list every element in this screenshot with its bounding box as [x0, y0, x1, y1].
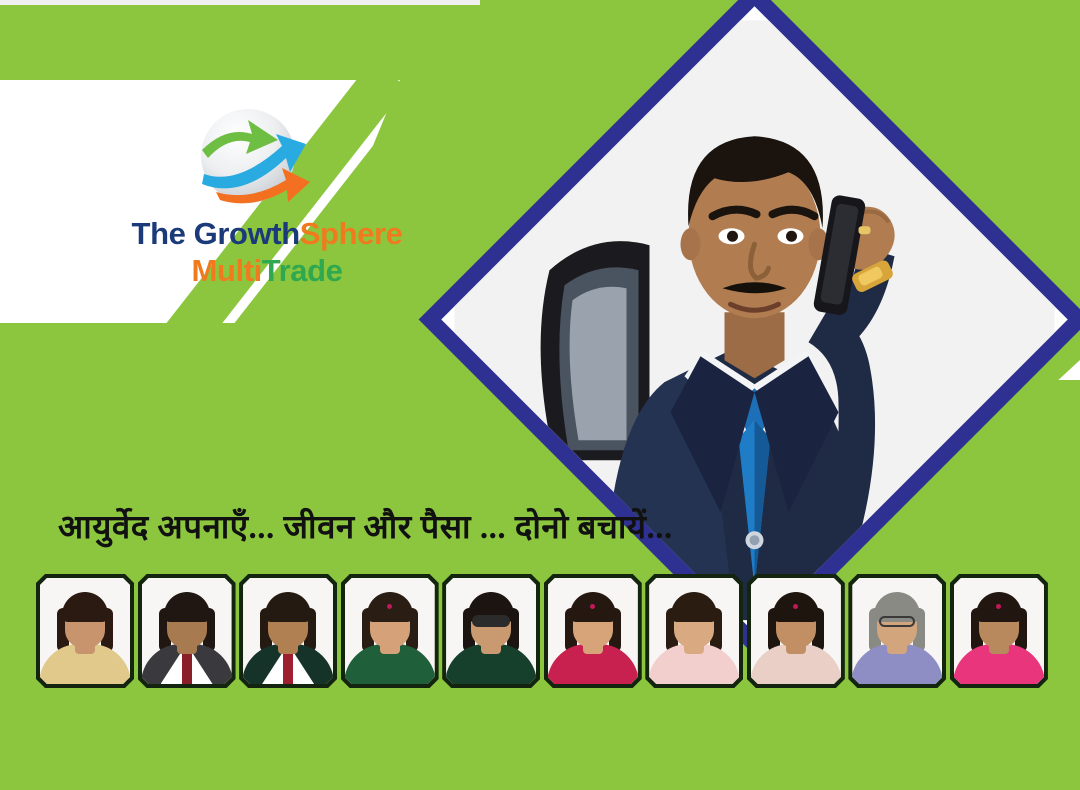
member-portrait	[442, 574, 540, 688]
member-portrait	[138, 574, 236, 688]
brand-word-multi: Multi	[191, 253, 261, 288]
member-portrait	[239, 574, 337, 688]
member-portrait	[645, 574, 743, 688]
member-portrait-strip	[36, 574, 1048, 688]
brand-name-line-2: MultiTrade	[82, 255, 452, 286]
member-portrait-photo	[954, 578, 1044, 684]
member-portrait-photo	[751, 578, 841, 684]
brand-word-the-growth: The Growth	[132, 216, 300, 251]
member-portrait-photo	[548, 578, 638, 684]
member-portrait	[544, 574, 642, 688]
member-portrait-photo	[446, 578, 536, 684]
brand-word-sphere: Sphere	[300, 216, 403, 251]
tagline-text: आयुर्वेद अपनाएँ... जीवन और पैसा ... दोनो…	[58, 503, 778, 548]
brand-name-line-1: The GrowthSphere	[82, 218, 452, 249]
member-portrait	[36, 574, 134, 688]
member-portrait-photo	[649, 578, 739, 684]
promotional-banner: The GrowthSphere MultiTrade	[0, 0, 1080, 790]
member-portrait	[747, 574, 845, 688]
member-portrait-photo	[345, 578, 435, 684]
member-portrait-photo	[243, 578, 333, 684]
member-portrait	[341, 574, 439, 688]
globe-arrows-icon	[190, 100, 312, 212]
member-portrait	[950, 574, 1048, 688]
member-portrait-photo	[852, 578, 942, 684]
member-portrait-photo	[40, 578, 130, 684]
member-portrait	[848, 574, 946, 688]
brand-word-trade: Trade	[262, 253, 343, 288]
member-portrait-photo	[142, 578, 232, 684]
brand-logo: The GrowthSphere MultiTrade	[82, 100, 452, 295]
